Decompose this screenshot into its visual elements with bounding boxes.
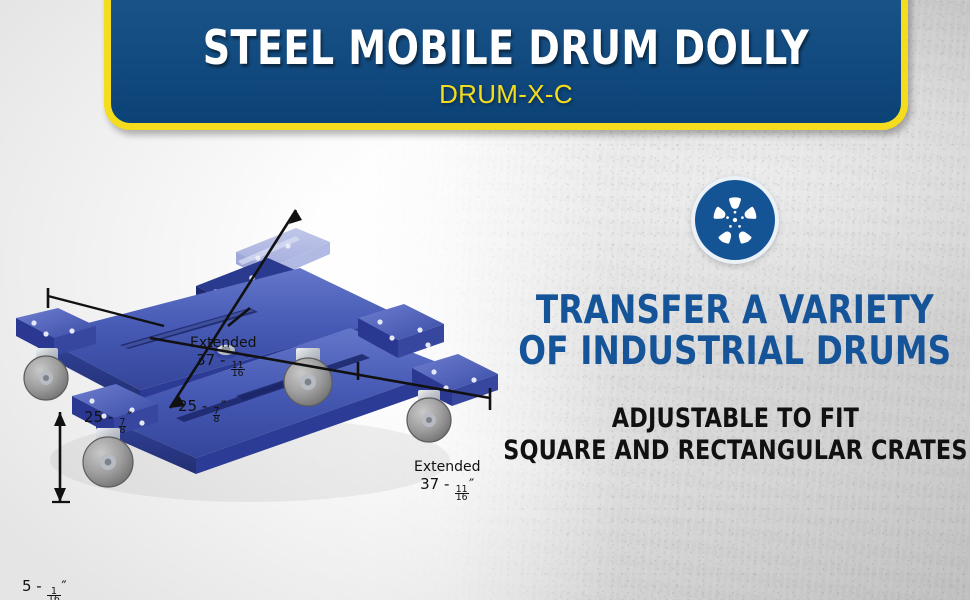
header-plaque: STEEL MOBILE DRUM DOLLY DRUM-X-C (104, 0, 908, 130)
feature-headline: TRANSFER A VARIETY OF INDUSTRIAL DRUMS (518, 290, 951, 373)
feature-subheadline: ADJUSTABLE TO FIT SQUARE AND RECTANGULAR… (503, 403, 967, 467)
wheel-rim-icon (706, 191, 764, 249)
product-illustration: Extended 37 - 1116″ 25 - 78″ 25 - 78″ Ex… (0, 140, 520, 560)
product-banner: STEEL MOBILE DRUM DOLLY DRUM-X-C (0, 0, 970, 600)
dimension-top-word: Extended (190, 336, 257, 352)
dimension-label-extended-right: Extended 37 - 1116″ (414, 460, 481, 502)
dimension-right-word: Extended (414, 460, 481, 476)
feature-column: TRANSFER A VARIETY OF INDUSTRIAL DRUMS A… (500, 160, 970, 560)
feature-headline-line2: OF INDUSTRIAL DRUMS (518, 331, 951, 372)
feature-headline-line1: TRANSFER A VARIETY (518, 290, 951, 331)
feature-subheadline-line1: ADJUSTABLE TO FIT (503, 403, 967, 435)
dimension-right-value: 37 - 1116″ (414, 476, 481, 502)
page-title: STEEL MOBILE DRUM DOLLY (203, 25, 809, 72)
model-number: DRUM-X-C (439, 81, 573, 107)
dimension-label-height: 5 - 116″ (22, 578, 67, 600)
wheel-badge (691, 176, 779, 264)
dimension-label-diagonal: 25 - 78″ (178, 398, 226, 424)
dimension-top-value: 37 - 1116″ (190, 352, 257, 378)
dimension-label-width-left: 25 - 78″ (84, 409, 132, 435)
feature-subheadline-line2: SQUARE AND RECTANGULAR CRATES (503, 435, 967, 467)
dimension-label-extended-top: Extended 37 - 1116″ (190, 336, 257, 378)
